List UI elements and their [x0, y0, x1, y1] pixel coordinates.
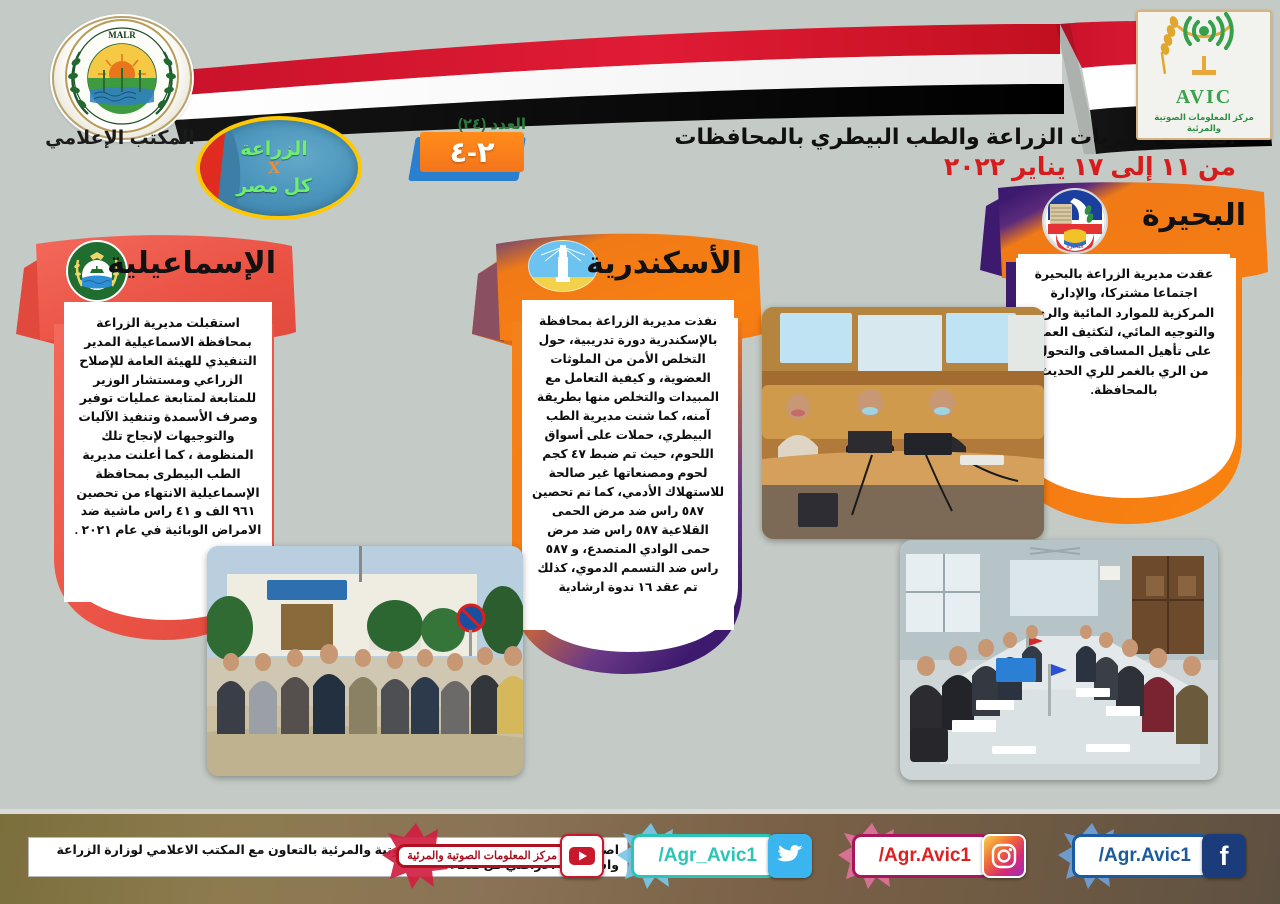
footer-bar: f /Agr.Avic1 /Agr.Avic1 — [0, 809, 1280, 904]
beheira-emblem-icon: البحيرة — [1042, 188, 1108, 254]
instagram-icon — [982, 834, 1026, 878]
card-title-beheira: البحيرة — [1142, 198, 1246, 233]
social-twitter[interactable]: /Agr_Avic1 — [631, 833, 812, 879]
photo-ismailia-group — [207, 546, 523, 776]
malr-acronym: MALR — [108, 30, 136, 40]
youtube-handle: مركز المعلومات الصوتية والمرئية — [396, 844, 568, 869]
instagram-handle: /Agr.Avic1 — [852, 834, 990, 878]
card-title-alexandria: الأسكندرية — [586, 246, 742, 281]
avic-subtitle: مركز المعلومات الصوتية والمرئية — [1138, 112, 1270, 134]
photo-beheira-meeting — [900, 540, 1218, 780]
oval-line-3: كل مصر — [236, 177, 312, 197]
malr-logo: MALR المكتب الإعلامي — [44, 16, 196, 144]
card-title-ismailia: الإسماعيلية — [107, 246, 276, 281]
oval-line-2: X — [268, 159, 280, 177]
twitter-handle: /Agr_Avic1 — [631, 834, 776, 878]
issue-label: العدد (٢٤) — [458, 115, 526, 133]
media-office-label: المكتب الإعلامي — [44, 127, 196, 150]
twitter-icon — [768, 834, 812, 878]
youtube-icon — [560, 834, 604, 878]
social-instagram[interactable]: /Agr.Avic1 — [852, 833, 1026, 879]
oval-line-1: الزراعة — [240, 140, 307, 160]
svg-text:البحيرة: البحيرة — [1066, 243, 1084, 250]
avic-logo: AVIC مركز المعلومات الصوتية والمرئية — [1136, 10, 1272, 140]
card-body-beheira: عقدت مديرية الزراعة بالبحيرة اجتماعا مشت… — [1018, 254, 1230, 444]
card-body-alexandria: نفذت مديرية الزراعة بمحافظة بالإسكندرية … — [522, 300, 734, 630]
avic-name: AVIC — [1138, 86, 1270, 109]
avic-mark-icon — [1138, 12, 1270, 92]
social-facebook[interactable]: f /Agr.Avic1 — [1072, 833, 1246, 879]
photo-alexandria-meeting — [762, 307, 1044, 539]
infographic-page: MALR المكتب الإعلامي الزراعة X كل مصر ال… — [0, 0, 1280, 904]
facebook-icon: f — [1202, 834, 1246, 878]
issue-number: ٢-٤ — [420, 132, 524, 172]
facebook-handle: /Agr.Avic1 — [1072, 834, 1210, 878]
issue-badge: العدد (٢٤) ٢-٤ — [410, 115, 526, 187]
agriculture-for-all-egypt-logo: الزراعة X كل مصر — [196, 116, 362, 220]
malr-seal-icon: MALR — [52, 16, 192, 140]
footer-divider — [0, 809, 1280, 814]
